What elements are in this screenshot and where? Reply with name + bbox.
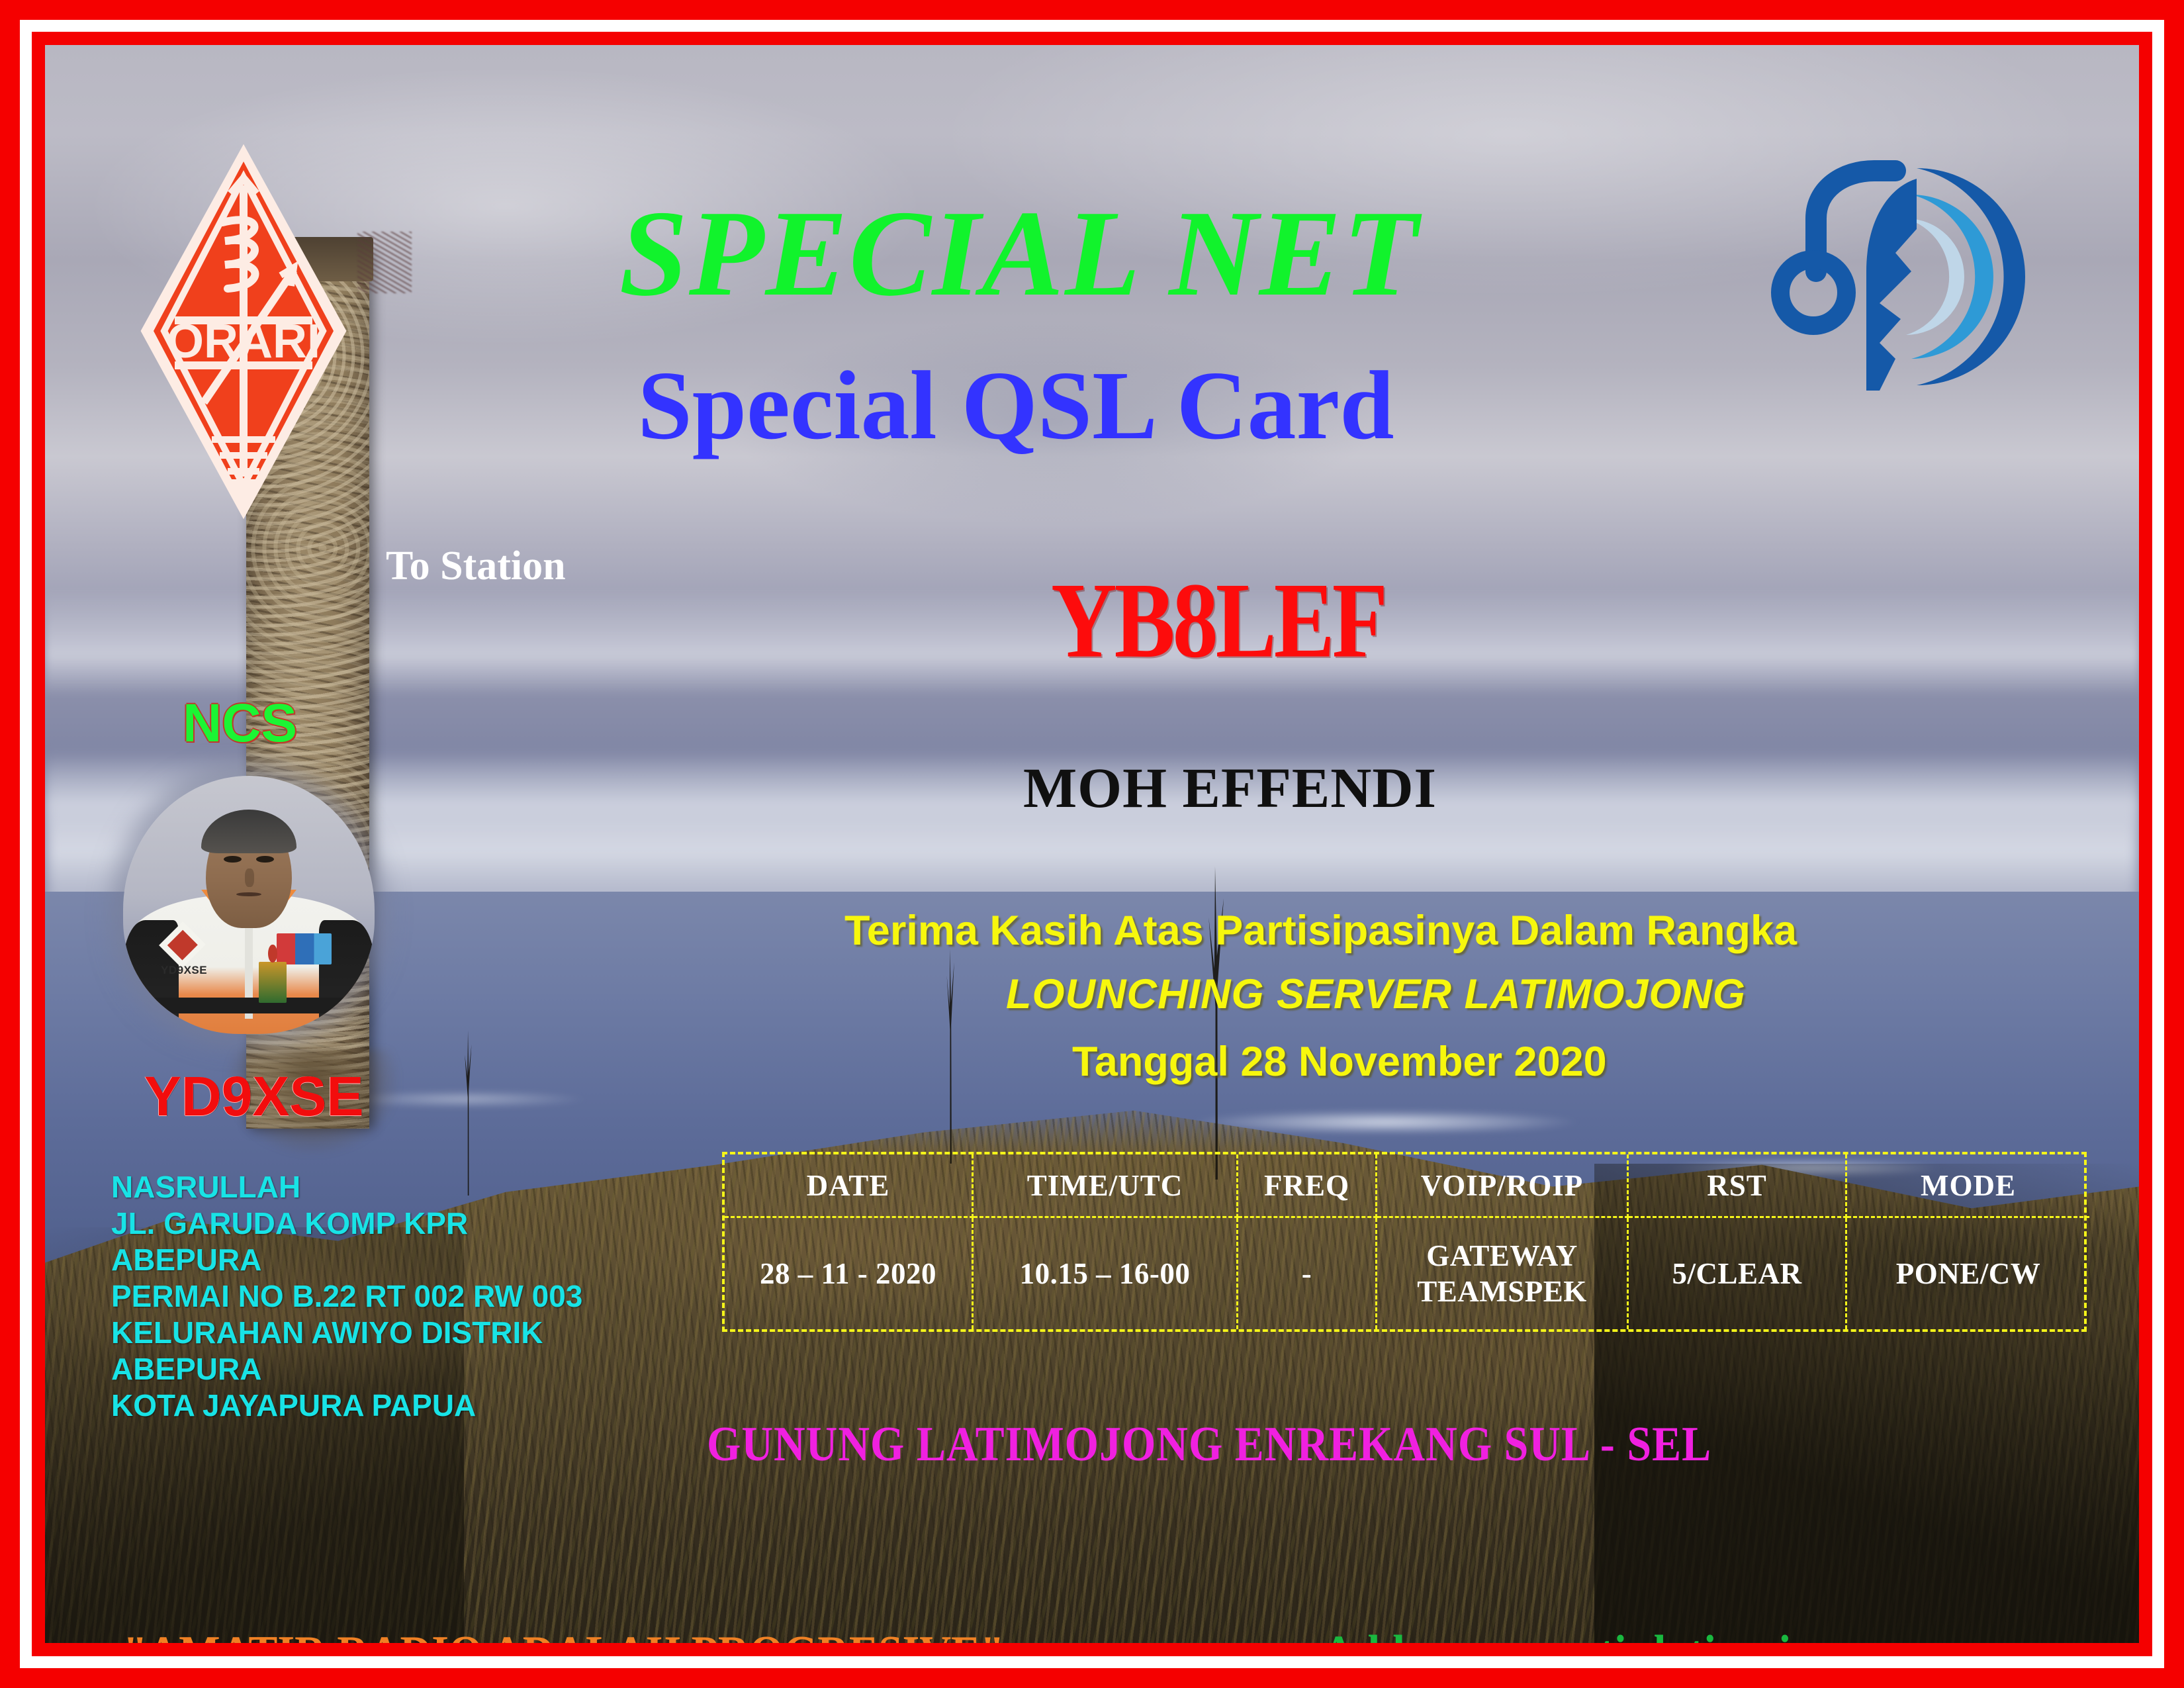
event-date-line: Tanggal 28 November 2020 <box>1072 1038 1607 1086</box>
ncs-label: NCS <box>183 692 297 755</box>
pillar-top-debris <box>357 232 412 293</box>
table-cell-voip-roip: GATEWAY TEAMSPEK <box>1377 1218 1629 1329</box>
table-cell-time: 10.15 – 16-00 <box>974 1218 1238 1329</box>
card-photo-background: ORARI <box>45 45 2139 1643</box>
station-callsign: YB8LEF <box>1051 558 1385 682</box>
headset-broadcast-logo <box>1768 144 2033 409</box>
table-cell-rst: 5/CLEAR <box>1629 1218 1847 1329</box>
portrait-id-card <box>259 962 287 1003</box>
table-header-time: TIME/UTC <box>974 1154 1238 1218</box>
title-special-qsl-card: Special QSL Card <box>637 350 1394 462</box>
ncs-callsign: YD9XSE <box>144 1064 364 1129</box>
event-thanks-line: Terima Kasih Atas Partisipasinya Dalam R… <box>844 907 1797 955</box>
voip-roip-line-2: TEAMSPEK <box>1417 1274 1587 1309</box>
table-header-rst: RST <box>1629 1154 1847 1218</box>
location-caption: GUNUNG LATIMOJONG ENREKANG SUL - SEL <box>707 1417 1711 1473</box>
station-operator-name: MOH EFFENDI <box>1023 755 1437 821</box>
address-line: JL. GARUDA KOMP KPR <box>111 1205 582 1242</box>
table-header-freq: FREQ <box>1238 1154 1377 1218</box>
ncs-operator-photo: YD9XSE <box>123 776 375 1034</box>
to-station-label: To Station <box>386 543 566 590</box>
address-line: KELURAHAN AWIYO DISTRIK <box>111 1315 582 1351</box>
orari-logo: ORARI <box>138 143 349 520</box>
voip-roip-line-1: GATEWAY <box>1417 1238 1587 1274</box>
table-header-mode: MODE <box>1847 1154 2089 1218</box>
portrait-callsign-embroidery: YD9XSE <box>161 964 207 977</box>
event-launch-line: LOUNCHING SERVER LATIMOJONG <box>1006 970 1746 1018</box>
address-line: NASRULLAH <box>111 1169 582 1205</box>
footer-website: Address : amatir.latimojong.com <box>1322 1624 1952 1643</box>
recipient-address-block: NASRULLAH JL. GARUDA KOMP KPR ABEPURA PE… <box>111 1169 582 1424</box>
portrait-eye-left <box>224 856 242 863</box>
address-line: ABEPURA <box>111 1351 582 1387</box>
qsl-card: ORARI <box>0 0 2184 1688</box>
qso-log-table: DATE TIME/UTC FREQ VOIP/ROIP RST MODE 28… <box>722 1152 2087 1332</box>
portrait-eye-right <box>256 856 274 863</box>
table-header-voip-roip: VOIP/ROIP <box>1377 1154 1629 1218</box>
table-cell-date: 28 – 11 - 2020 <box>725 1218 974 1329</box>
address-line: ABEPURA <box>111 1242 582 1278</box>
orari-logo-svg: ORARI <box>138 143 349 520</box>
portrait-belt <box>133 998 365 1013</box>
table-cell-mode: PONE/CW <box>1847 1218 2089 1329</box>
orari-logo-text: ORARI <box>167 315 320 368</box>
footer-motto: "AMATIR RADIO ADALAH PROGRESIVE" <box>123 1626 1005 1643</box>
portrait-nose <box>245 868 253 886</box>
portrait-club-patch <box>277 933 332 964</box>
address-line: KOTA JAYAPURA PAPUA <box>111 1387 582 1424</box>
table-cell-freq: - <box>1238 1218 1377 1329</box>
portrait-mouth <box>236 892 261 896</box>
headset-broadcast-logo-svg <box>1768 144 2033 409</box>
title-special-net: SPECIAL NET <box>619 183 1420 324</box>
address-line: PERMAI NO B.22 RT 002 RW 003 <box>111 1278 582 1315</box>
table-header-date: DATE <box>725 1154 974 1218</box>
